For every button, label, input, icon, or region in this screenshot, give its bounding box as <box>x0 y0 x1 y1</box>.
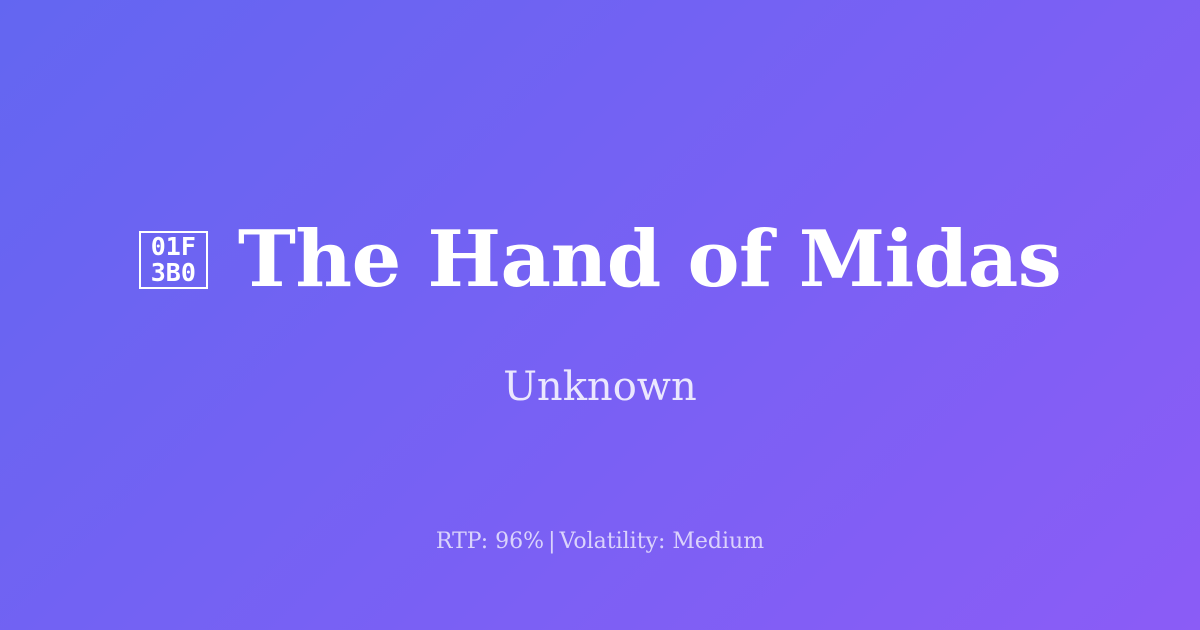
tofu-codepoint-top: 01F <box>151 234 196 260</box>
game-meta-line: RTP: 96%|Volatility: Medium <box>0 528 1200 556</box>
page-subtitle: Unknown <box>503 363 697 411</box>
slot-machine-icon: 01F 3B0 <box>139 231 208 289</box>
hero-row: 01F 3B0 The Hand of Midas <box>0 219 1200 301</box>
og-share-card: 01F 3B0 The Hand of Midas Unknown RTP: 9… <box>0 0 1200 630</box>
meta-rtp: RTP: 96% <box>436 529 544 554</box>
page-title: The Hand of Midas <box>238 219 1061 301</box>
meta-separator: | <box>544 529 559 554</box>
tofu-codepoint-bottom: 3B0 <box>151 260 196 286</box>
meta-volatility: Volatility: Medium <box>560 529 765 554</box>
